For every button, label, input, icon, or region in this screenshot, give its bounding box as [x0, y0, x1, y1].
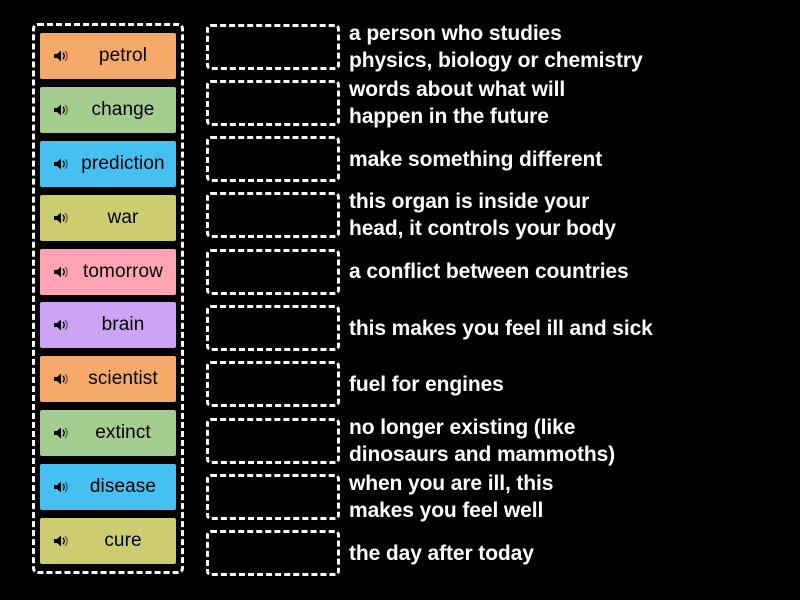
definition-row: this makes you feel ill and sick — [206, 304, 786, 353]
definition-row-container: a person who studies physics, biology or… — [206, 22, 786, 578]
definition-row: the day after today — [206, 529, 786, 578]
definition-row: a conflict between countries — [206, 247, 786, 296]
definition-row: no longer existing (like dinosaurs and m… — [206, 416, 786, 465]
drop-zone-4[interactable] — [206, 192, 340, 238]
word-tile-war[interactable]: war — [40, 195, 176, 241]
word-tile-brain[interactable]: brain — [40, 302, 176, 348]
drop-zone-2[interactable] — [206, 80, 340, 126]
speaker-icon[interactable] — [48, 534, 74, 548]
word-tile-label: extinct — [74, 422, 176, 444]
word-tile-label: petrol — [74, 45, 176, 67]
drop-zone-3[interactable] — [206, 136, 340, 182]
definition-text: fuel for engines — [349, 371, 786, 398]
word-tile-label: scientist — [74, 368, 176, 390]
definition-row: a person who studies physics, biology or… — [206, 22, 786, 71]
drop-zone-9[interactable] — [206, 474, 340, 520]
word-tile-tomorrow[interactable]: tomorrow — [40, 249, 176, 295]
speaker-icon[interactable] — [48, 480, 74, 494]
word-tile-label: tomorrow — [74, 261, 176, 283]
speaker-icon[interactable] — [48, 103, 74, 117]
definition-row: fuel for engines — [206, 360, 786, 409]
definition-text: a person who studies physics, biology or… — [349, 20, 786, 74]
definition-text: make something different — [349, 146, 786, 173]
word-tile-disease[interactable]: disease — [40, 464, 176, 510]
drop-zone-8[interactable] — [206, 418, 340, 464]
word-tile-label: war — [74, 207, 176, 229]
definition-text: when you are ill, this makes you feel we… — [349, 470, 786, 524]
word-tile-label: cure — [74, 530, 176, 552]
match-up-board: petrolchangepredictionwartomorrowbrainsc… — [0, 0, 800, 600]
speaker-icon[interactable] — [48, 265, 74, 279]
definition-text: this organ is inside your head, it contr… — [349, 188, 786, 242]
speaker-icon[interactable] — [48, 211, 74, 225]
speaker-icon[interactable] — [48, 372, 74, 386]
drop-zone-1[interactable] — [206, 24, 340, 70]
drop-zone-6[interactable] — [206, 305, 340, 351]
speaker-icon[interactable] — [48, 426, 74, 440]
word-tile-label: change — [74, 99, 176, 121]
drop-zone-10[interactable] — [206, 530, 340, 576]
drop-zone-7[interactable] — [206, 361, 340, 407]
definition-row: when you are ill, this makes you feel we… — [206, 473, 786, 522]
word-tile-label: brain — [74, 314, 176, 336]
definition-row: this organ is inside your head, it contr… — [206, 191, 786, 240]
definition-text: this makes you feel ill and sick — [349, 315, 786, 342]
definition-row: words about what will happen in the futu… — [206, 78, 786, 127]
definition-row: make something different — [206, 135, 786, 184]
word-tile-scientist[interactable]: scientist — [40, 356, 176, 402]
definition-text: the day after today — [349, 540, 786, 567]
speaker-icon[interactable] — [48, 157, 74, 171]
word-tile-extinct[interactable]: extinct — [40, 410, 176, 456]
definition-text: a conflict between countries — [349, 258, 786, 285]
word-tile-label: prediction — [74, 153, 176, 175]
definition-text: words about what will happen in the futu… — [349, 76, 786, 130]
word-tile-container[interactable]: petrolchangepredictionwartomorrowbrainsc… — [32, 23, 184, 574]
word-tile-petrol[interactable]: petrol — [40, 33, 176, 79]
drop-zone-5[interactable] — [206, 249, 340, 295]
definition-text: no longer existing (like dinosaurs and m… — [349, 414, 786, 468]
word-tile-label: disease — [74, 476, 176, 498]
word-tile-cure[interactable]: cure — [40, 518, 176, 564]
word-tile-prediction[interactable]: prediction — [40, 141, 176, 187]
speaker-icon[interactable] — [48, 49, 74, 63]
speaker-icon[interactable] — [48, 318, 74, 332]
word-tile-change[interactable]: change — [40, 87, 176, 133]
